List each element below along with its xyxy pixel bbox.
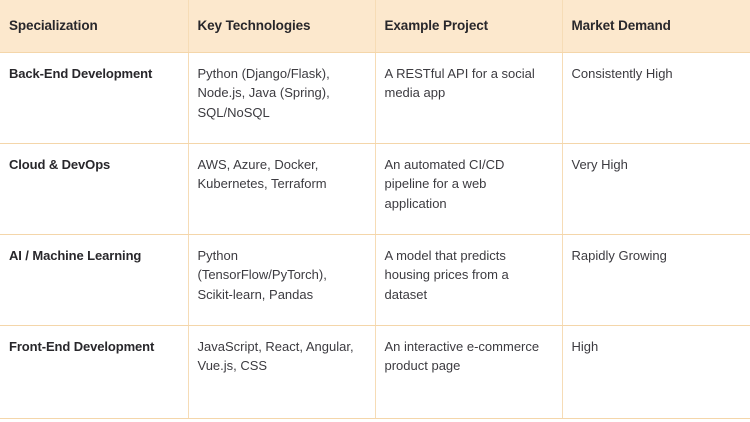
cell-text: Front-End Development <box>9 337 176 357</box>
cell-text: Rapidly Growing <box>572 246 739 266</box>
cell-text: Python (TensorFlow/PyTorch), Scikit-lear… <box>198 246 363 305</box>
cell-specialization: Back-End Development <box>0 52 188 143</box>
table-container: Specialization Key Technologies Example … <box>0 0 750 419</box>
table-row: Back-End Development Python (Django/Flas… <box>0 52 750 143</box>
cell-example-project: A RESTful API for a social media app <box>375 52 562 143</box>
cell-key-technologies: Python (TensorFlow/PyTorch), Scikit-lear… <box>188 234 375 325</box>
cell-specialization: Front-End Development <box>0 325 188 418</box>
cell-key-technologies: JavaScript, React, Angular, Vue.js, CSS <box>188 325 375 418</box>
cell-example-project: An interactive e-commerce product page <box>375 325 562 418</box>
cell-example-project: A model that predicts housing prices fro… <box>375 234 562 325</box>
cell-text: An automated CI/CD pipeline for a web ap… <box>385 155 550 214</box>
cell-text: High <box>572 337 739 357</box>
cell-text: Python (Django/Flask), Node.js, Java (Sp… <box>198 64 363 123</box>
table-header: Specialization Key Technologies Example … <box>0 0 750 52</box>
cell-key-technologies: AWS, Azure, Docker, Kubernetes, Terrafor… <box>188 143 375 234</box>
cell-text: Very High <box>572 155 739 175</box>
cell-text: AWS, Azure, Docker, Kubernetes, Terrafor… <box>198 155 363 195</box>
cell-market-demand: Consistently High <box>562 52 750 143</box>
column-header-key-technologies: Key Technologies <box>188 0 375 52</box>
cell-example-project: An automated CI/CD pipeline for a web ap… <box>375 143 562 234</box>
cell-specialization: AI / Machine Learning <box>0 234 188 325</box>
cell-text: Cloud & DevOps <box>9 155 176 175</box>
cell-text: A RESTful API for a social media app <box>385 64 550 104</box>
column-header-example-project: Example Project <box>375 0 562 52</box>
cell-text: An interactive e-commerce product page <box>385 337 550 377</box>
table-row: Cloud & DevOps AWS, Azure, Docker, Kuber… <box>0 143 750 234</box>
cell-market-demand: High <box>562 325 750 418</box>
table-row: AI / Machine Learning Python (TensorFlow… <box>0 234 750 325</box>
column-header-specialization: Specialization <box>0 0 188 52</box>
cell-text: Consistently High <box>572 64 739 84</box>
specialization-table: Specialization Key Technologies Example … <box>0 0 750 419</box>
table-row: Front-End Development JavaScript, React,… <box>0 325 750 418</box>
cell-text: JavaScript, React, Angular, Vue.js, CSS <box>198 337 363 377</box>
column-header-market-demand: Market Demand <box>562 0 750 52</box>
table-body: Back-End Development Python (Django/Flas… <box>0 52 750 418</box>
table-header-row: Specialization Key Technologies Example … <box>0 0 750 52</box>
cell-market-demand: Very High <box>562 143 750 234</box>
cell-key-technologies: Python (Django/Flask), Node.js, Java (Sp… <box>188 52 375 143</box>
cell-market-demand: Rapidly Growing <box>562 234 750 325</box>
cell-text: AI / Machine Learning <box>9 246 176 266</box>
cell-text: A model that predicts housing prices fro… <box>385 246 550 305</box>
cell-specialization: Cloud & DevOps <box>0 143 188 234</box>
cell-text: Back-End Development <box>9 64 176 84</box>
